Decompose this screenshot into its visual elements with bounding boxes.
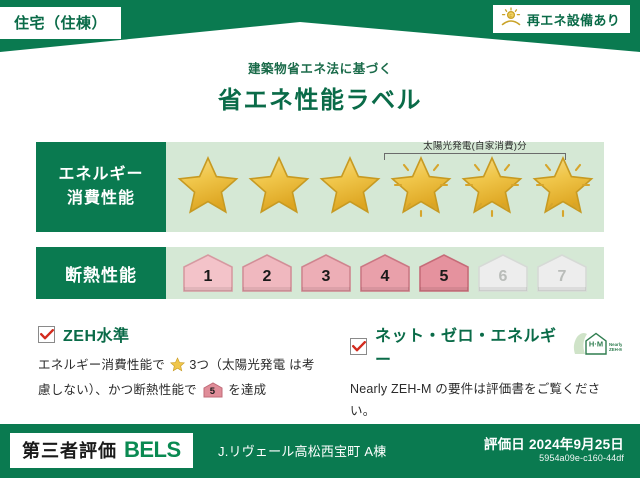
evaluation-date: 評価日 2024年9月25日	[484, 433, 624, 453]
energy-label-line1: エネルギー	[58, 163, 143, 187]
housing-type-label: 住宅（住棟）	[14, 15, 107, 32]
check-icon	[352, 341, 366, 352]
sun-renewable-icon: E	[500, 7, 522, 32]
zehm-logo-center-text: H·M	[589, 339, 603, 348]
net-zero-energy-criterion: ネット・ゼロ・エネルギー H·M Nearly ZEH-M Nearly ZEH…	[336, 322, 636, 423]
energy-label-line2: 消費性能	[67, 187, 135, 211]
insulation-level-value: 7	[558, 268, 567, 293]
insulation-level-value: 1	[204, 268, 213, 293]
insulation-level-value: 5	[440, 268, 449, 293]
zeh-criterion-header: ZEH水準	[38, 322, 322, 346]
insulation-level-7: 7	[535, 253, 589, 293]
solar-annotation-label: 太陽光発電(自家消費)分	[384, 138, 566, 152]
evaluation-id: 5954a09e-c160-44df	[539, 453, 624, 463]
insulation-level-3: 3	[299, 253, 353, 293]
zeh-body-part2: 3つ（太陽光発電	[189, 358, 285, 372]
insulation-level-4: 4	[358, 253, 412, 293]
insulation-level-value: 4	[381, 268, 390, 293]
star-4	[388, 154, 454, 220]
criteria-section: ZEH水準 エネルギー消費性能で 3つ（太陽光発電 は考慮しない）、かつ断熱性能…	[0, 322, 640, 423]
star-6	[530, 154, 596, 220]
label-title-block: 建築物省エネ法に基づく 省エネ性能ラベル	[0, 58, 640, 115]
star-5	[459, 154, 525, 220]
insulation-level-value: 2	[263, 268, 272, 293]
insulation-level-5: 5	[417, 253, 471, 293]
title-subtitle: 建築物省エネ法に基づく	[0, 58, 640, 77]
zeh-criterion-body: エネルギー消費性能で 3つ（太陽光発電 は考慮しない）、かつ断熱性能で 5 を達…	[38, 355, 322, 402]
zeh-checkbox[interactable]	[38, 326, 55, 343]
star-2	[246, 154, 312, 220]
renewable-equipment-badge: E 再エネ設備あり	[493, 5, 630, 33]
solar-generation-annotation: 太陽光発電(自家消費)分	[384, 138, 566, 160]
nze-criterion-header: ネット・ゼロ・エネルギー H·M Nearly ZEH-M	[350, 322, 622, 370]
nearly-zeh-m-logo: H·M Nearly ZEH-M	[572, 330, 622, 363]
insulation-performance-label-box: 断熱性能	[36, 247, 166, 299]
insulation-level-1: 1	[181, 253, 235, 293]
housing-type-chip: 住宅（住棟）	[0, 7, 121, 39]
nze-criterion-title: ネット・ゼロ・エネルギー	[375, 322, 560, 370]
star-1	[175, 154, 241, 220]
label-footer: 第三者評価 BELS J.リヴェール高松西宝町 A棟 評価日 2024年9月25…	[0, 424, 640, 478]
zeh-body-part4: を達成	[228, 383, 266, 397]
insulation-level-value: 6	[499, 268, 508, 293]
insulation-level-6: 6	[476, 253, 530, 293]
nze-checkbox[interactable]	[350, 338, 367, 355]
insulation-label: 断熱性能	[65, 261, 137, 286]
zeh-criterion-title: ZEH水準	[63, 322, 130, 346]
building-name: J.リヴェール高松西宝町 A棟	[218, 441, 386, 460]
energy-performance-label: 住宅（住棟） E 再エネ設備あり 建築物省エネ法に基づく 省エネ性能ラベル	[0, 0, 640, 478]
insulation-level-value: 3	[322, 268, 331, 293]
insulation-performance-row: 断熱性能 1234567	[36, 247, 604, 299]
insulation-level-panel: 1234567	[166, 247, 604, 299]
inline-level-value: 5	[203, 384, 223, 401]
zehm-logo-caption2: ZEH-M	[609, 347, 622, 352]
title-main: 省エネ性能ラベル	[0, 80, 640, 115]
solar-bracket-line	[384, 153, 566, 160]
zeh-criterion: ZEH水準 エネルギー消費性能で 3つ（太陽光発電 は考慮しない）、かつ断熱性能…	[24, 322, 336, 423]
insulation-level-2: 2	[240, 253, 294, 293]
star-3	[317, 154, 383, 220]
nze-criterion-body: Nearly ZEH-M の要件は評価書をご覧ください。	[350, 379, 622, 423]
energy-performance-label-box: エネルギー 消費性能	[36, 142, 166, 232]
zeh-body-part1: エネルギー消費性能で	[38, 358, 165, 372]
bels-certification-chip: 第三者評価 BELS	[10, 433, 193, 468]
renewable-badge-label: 再エネ設備あり	[527, 10, 620, 29]
bels-jp-label: 第三者評価	[22, 437, 117, 463]
inline-level-badge: 5	[203, 382, 223, 398]
inline-star-icon	[170, 357, 185, 380]
check-icon	[40, 329, 54, 340]
bels-en-label: BELS	[124, 437, 181, 463]
